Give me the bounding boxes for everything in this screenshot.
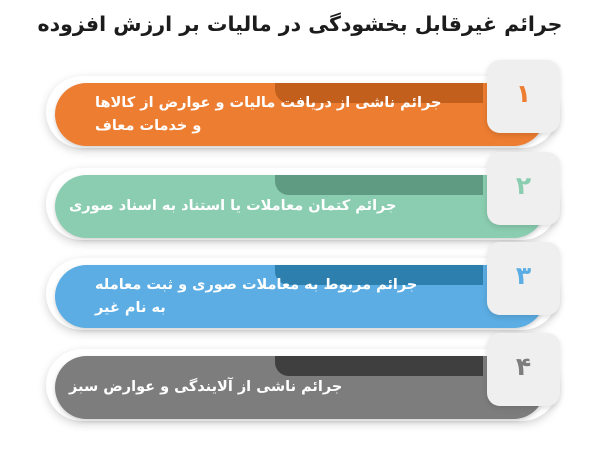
item-bar-wrapper[interactable]: جرائم مربوط به معاملات صوری و ثبت معامله… bbox=[55, 265, 545, 328]
item-bar-wrapper[interactable]: جرائم ناشی از آلایندگی و عوارض سبز bbox=[55, 356, 545, 419]
page-title: جرائم غیرقابل بخشودگی در مالیات بر ارزش … bbox=[0, 12, 600, 38]
item-number-label: ۲ bbox=[487, 152, 560, 225]
item-bar-wrapper[interactable]: جرائم ناشی از دریافت مالیات و عوارض از ک… bbox=[55, 83, 545, 146]
item-number-badge[interactable]: ۱ bbox=[487, 60, 560, 133]
infographic-canvas: جرائم غیرقابل بخشودگی در مالیات بر ارزش … bbox=[0, 0, 600, 450]
item-number-label: ۱ bbox=[487, 60, 560, 133]
list-item: جرائم مربوط به معاملات صوری و ثبت معامله… bbox=[0, 242, 600, 337]
item-bar-wrapper[interactable]: جرائم کتمان معاملات یا استناد به اسناد ص… bbox=[55, 175, 545, 238]
list-item: جرائم ناشی از آلایندگی و عوارض سبز ۴ bbox=[0, 333, 600, 428]
item-number-badge[interactable]: ۳ bbox=[487, 242, 560, 315]
item-number-label: ۴ bbox=[487, 333, 560, 406]
item-number-label: ۳ bbox=[487, 242, 560, 315]
list-item: جرائم کتمان معاملات یا استناد به اسناد ص… bbox=[0, 152, 600, 247]
list-item: جرائم ناشی از دریافت مالیات و عوارض از ک… bbox=[0, 60, 600, 155]
item-number-badge[interactable]: ۲ bbox=[487, 152, 560, 225]
item-number-badge[interactable]: ۴ bbox=[487, 333, 560, 406]
